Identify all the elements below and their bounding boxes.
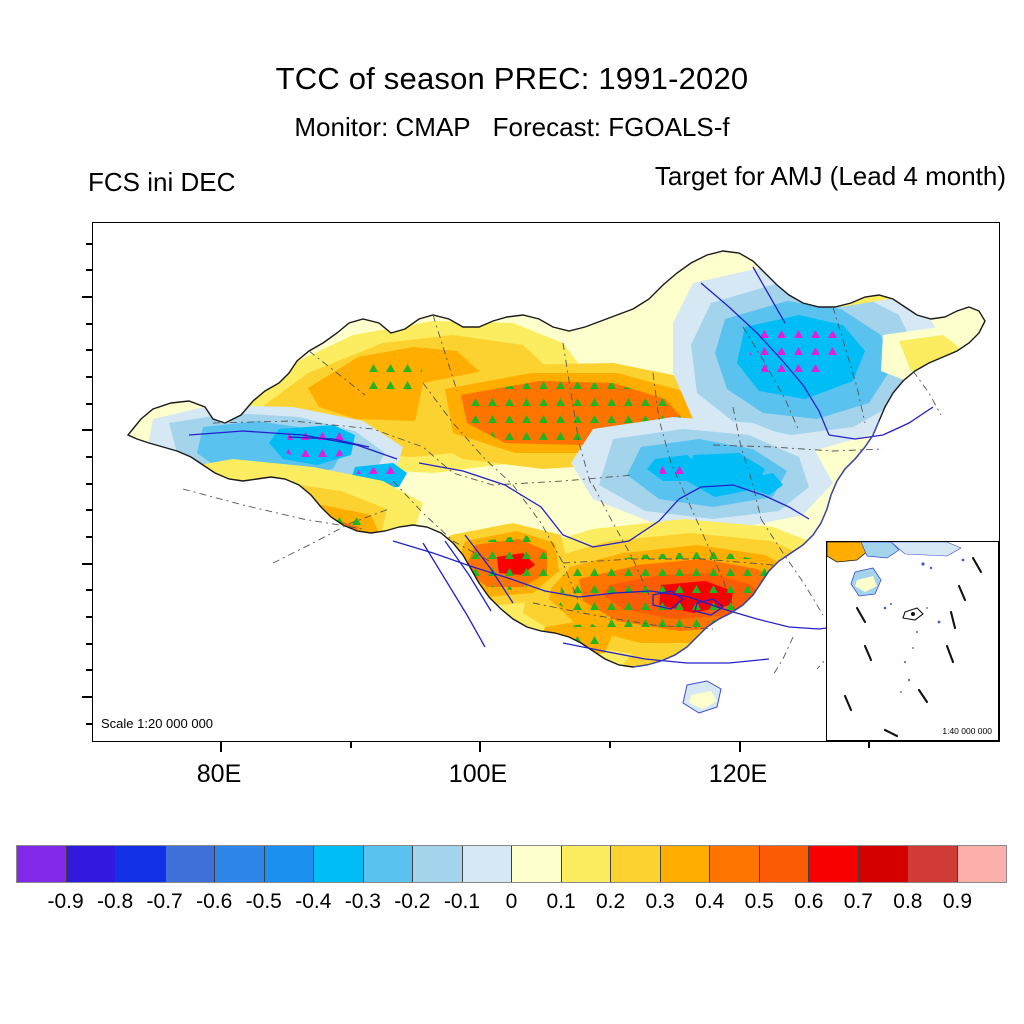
inset-map	[827, 542, 998, 740]
south-china-sea-inset: 1:40 000 000	[826, 541, 999, 741]
monitor-label: Monitor: CMAP	[294, 112, 470, 142]
colorbar-tick-0.6: 0.6	[794, 890, 823, 914]
colorbar-segment-10	[512, 846, 562, 882]
ytick-minor	[86, 456, 93, 458]
colorbar-segment-5	[265, 846, 315, 882]
ytick-minor	[86, 243, 93, 245]
ytick-40N	[82, 429, 93, 431]
colorbar-tick--0.8: -0.8	[97, 890, 133, 914]
colorbar-segment-0	[17, 846, 67, 882]
colorbar-segment-4	[215, 846, 265, 882]
ytick-minor	[86, 403, 93, 405]
xtick-minor	[350, 741, 352, 748]
colorbar-segment-2	[116, 846, 166, 882]
colorbar-segment-11	[562, 846, 612, 882]
ytick-minor	[86, 483, 93, 485]
colorbar-tick-0.3: 0.3	[646, 890, 675, 914]
page-title: TCC of season PREC: 1991-2020	[0, 61, 1024, 97]
ytick-minor	[86, 616, 93, 618]
colorbar-tick--0.7: -0.7	[147, 890, 183, 914]
inset-scale-note: 1:40 000 000	[942, 726, 992, 736]
xtick-label-80E: 80E	[197, 760, 241, 789]
ytick-minor	[86, 349, 93, 351]
colorbar-segment-19	[958, 846, 1007, 882]
colorbar-segment-8	[413, 846, 463, 882]
init-note: FCS ini DEC	[88, 167, 235, 198]
colorbar-tick--0.4: -0.4	[295, 890, 331, 914]
ytick-30N	[82, 563, 93, 565]
colorbar-segment-15	[760, 846, 810, 882]
ytick-minor	[86, 669, 93, 671]
colorbar	[16, 845, 1007, 883]
ytick-minor	[86, 643, 93, 645]
colorbar-segment-7	[364, 846, 414, 882]
colorbar-tick--0.6: -0.6	[196, 890, 232, 914]
ytick-minor	[86, 723, 93, 725]
colorbar-segment-1	[67, 846, 117, 882]
colorbar-segment-17	[859, 846, 909, 882]
map-scale-note: Scale 1:20 000 000	[101, 716, 213, 731]
ytick-minor	[86, 536, 93, 538]
xtick-80E	[220, 741, 222, 752]
forecast-label: Forecast: FGOALS-f	[493, 112, 730, 142]
colorbar-tick-0.1: 0.1	[546, 890, 575, 914]
colorbar-segment-13	[661, 846, 711, 882]
colorbar-tick-0.4: 0.4	[695, 890, 724, 914]
xtick-120E	[739, 741, 741, 752]
xtick-label-100E: 100E	[449, 760, 507, 789]
ytick-50N	[82, 296, 93, 298]
colorbar-tick-0: 0	[506, 890, 518, 914]
ytick-minor	[86, 589, 93, 591]
colorbar-tick-0.9: 0.9	[943, 890, 972, 914]
ytick-minor	[86, 269, 93, 271]
colorbar-segment-14	[710, 846, 760, 882]
ytick-minor	[86, 376, 93, 378]
xtick-label-120E: 120E	[709, 760, 767, 789]
colorbar-tick--0.3: -0.3	[345, 890, 381, 914]
colorbar-tick--0.2: -0.2	[394, 890, 430, 914]
ytick-minor	[86, 323, 93, 325]
colorbar-tick--0.5: -0.5	[246, 890, 282, 914]
target-note: Target for AMJ (Lead 4 month)	[655, 161, 1006, 192]
colorbar-segment-3	[166, 846, 216, 882]
colorbar-tick-0.7: 0.7	[844, 890, 873, 914]
colorbar-segment-18	[908, 846, 958, 882]
colorbar-tick-labels: -0.9-0.8-0.7-0.6-0.5-0.4-0.3-0.2-0.100.1…	[16, 890, 1007, 920]
colorbar-tick--0.1: -0.1	[444, 890, 480, 914]
xtick-minor	[609, 741, 611, 748]
map-plot-area: Scale 1:20 000 000	[92, 222, 1000, 742]
colorbar-segment-6	[314, 846, 364, 882]
colorbar-tick-0.8: 0.8	[893, 890, 922, 914]
xtick-100E	[479, 741, 481, 752]
colorbar-segment-16	[809, 846, 859, 882]
ytick-20N	[82, 696, 93, 698]
colorbar-tick-0.2: 0.2	[596, 890, 625, 914]
colorbar-segment-12	[611, 846, 661, 882]
figure-subtitle: Monitor: CMAPForecast: FGOALS-f	[0, 112, 1024, 143]
ytick-minor	[86, 509, 93, 511]
figure-canvas: TCC of season PREC: 1991-2020 Monitor: C…	[0, 0, 1024, 1024]
xtick-minor	[868, 741, 870, 748]
colorbar-tick--0.9: -0.9	[47, 890, 83, 914]
colorbar-tick-0.5: 0.5	[745, 890, 774, 914]
colorbar-segment-9	[463, 846, 513, 882]
